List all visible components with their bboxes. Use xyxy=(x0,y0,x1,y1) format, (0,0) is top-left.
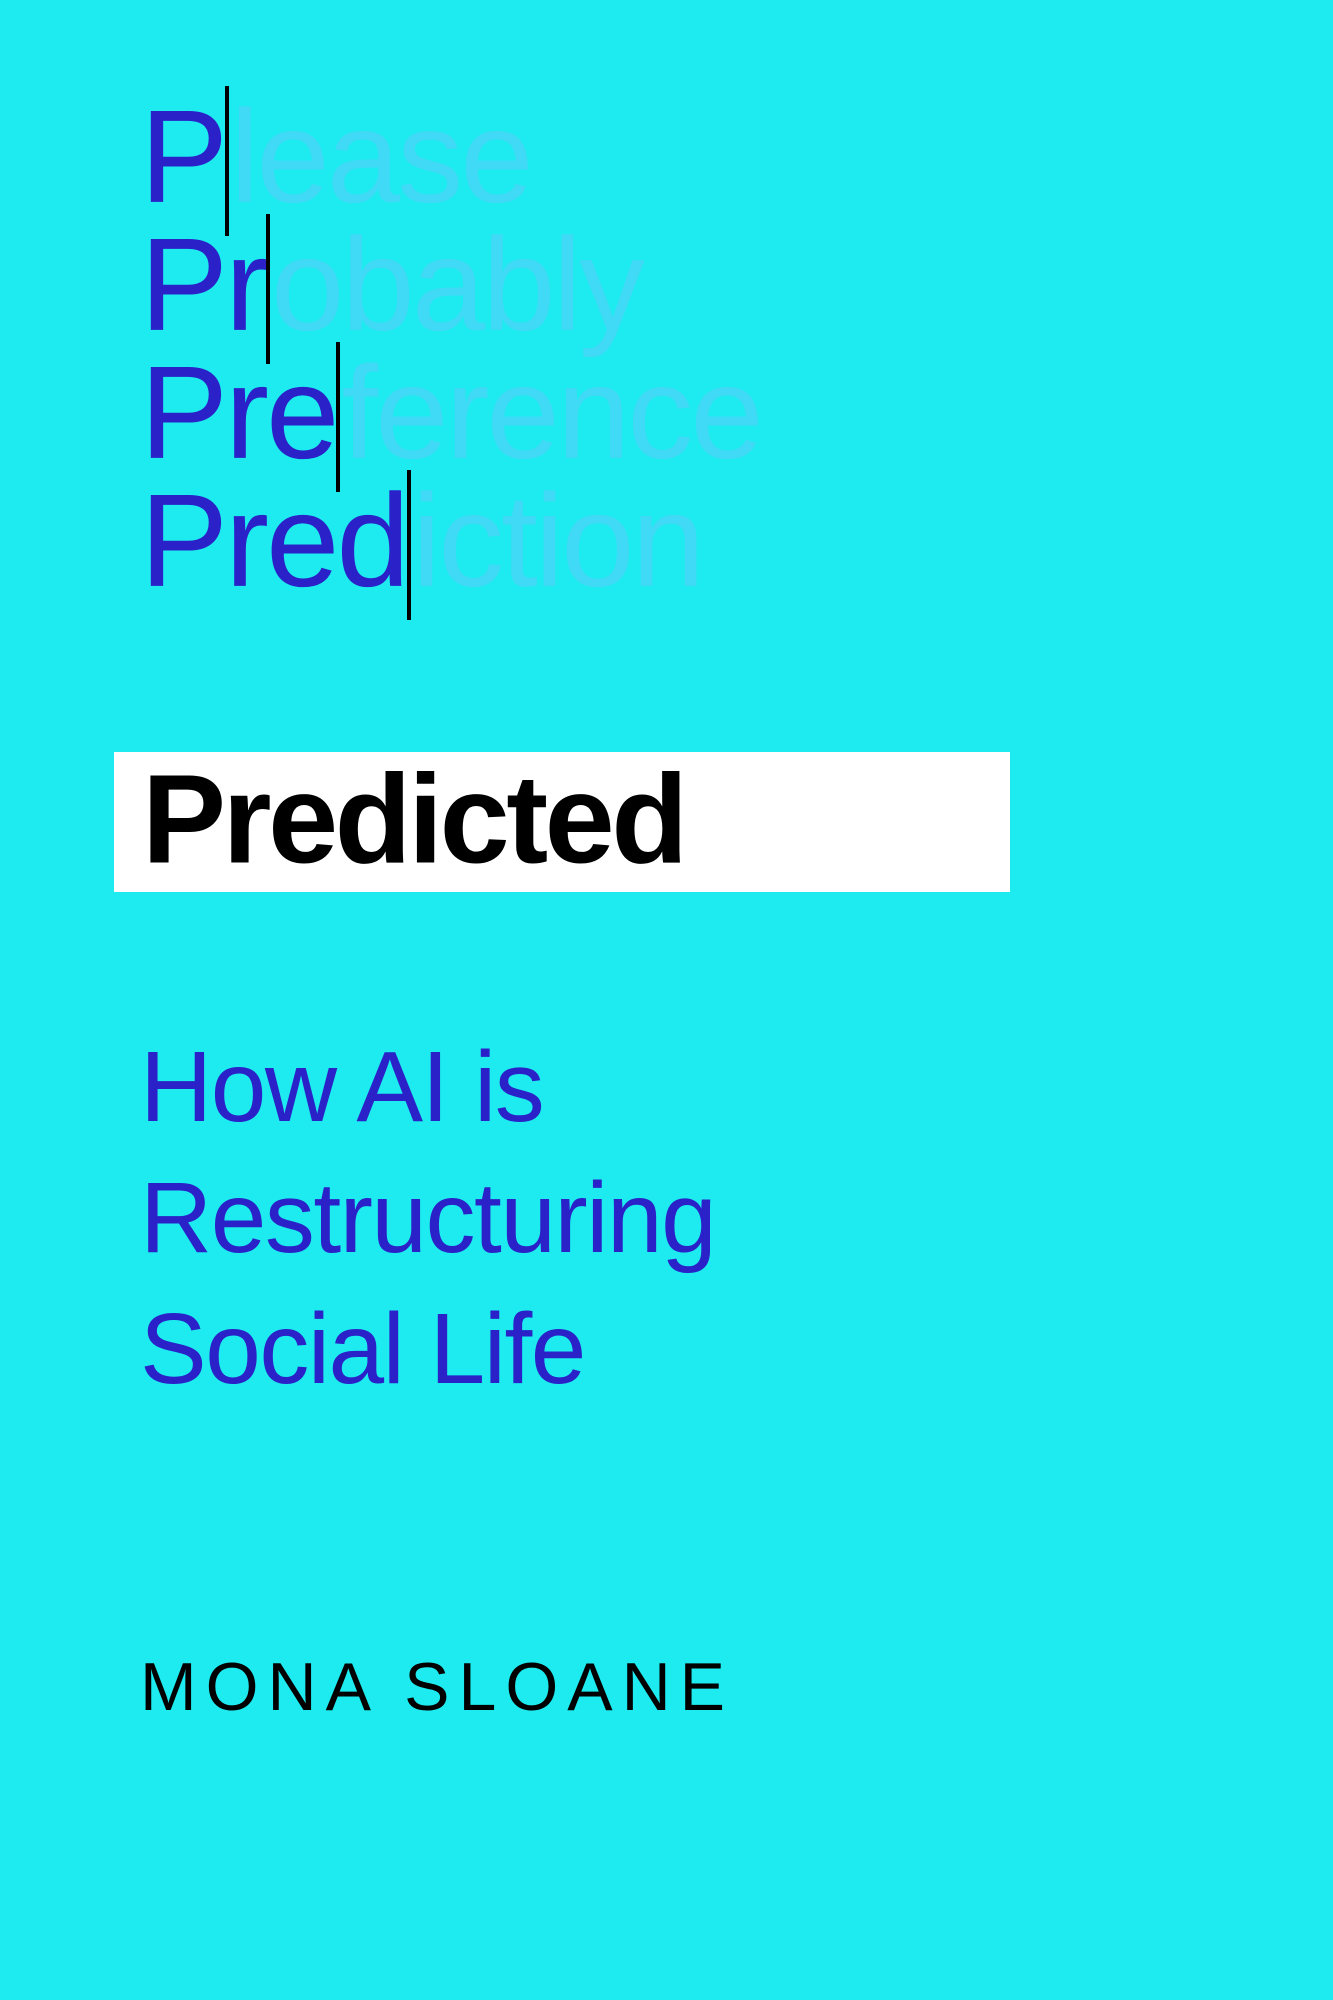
book-cover: Please Probably Preference Prediction Pr… xyxy=(0,0,1333,2000)
title-line-3-typed: Pre xyxy=(140,339,336,486)
text-caret-icon xyxy=(407,470,411,620)
title-line-2-typed: Pr xyxy=(140,211,266,358)
title-line-3: Preference xyxy=(140,348,1290,476)
subtitle-line-1: How AI is xyxy=(140,1022,1220,1153)
title-line-4-ghost: iction xyxy=(412,467,702,614)
title-line-1: Please xyxy=(140,92,1290,220)
title-line-3-ghost: ference xyxy=(341,339,760,486)
subtitle-line-3: Social Life xyxy=(140,1284,1220,1415)
main-title-highlight-box: Predicted xyxy=(114,752,1010,892)
title-line-1-typed: P xyxy=(140,83,225,230)
title-line-1-ghost: lease xyxy=(230,83,531,230)
animated-title-stack: Please Probably Preference Prediction xyxy=(140,92,1290,604)
title-line-4-typed: Pred xyxy=(140,467,407,614)
author-name: MONA SLOANE xyxy=(140,1648,734,1726)
title-line-4: Prediction xyxy=(140,476,1290,604)
subtitle: How AI is Restructuring Social Life xyxy=(140,1022,1220,1415)
title-line-2-ghost: obably xyxy=(271,211,642,358)
subtitle-line-2: Restructuring xyxy=(140,1153,1220,1284)
main-title: Predicted xyxy=(142,756,685,882)
title-line-2: Probably xyxy=(140,220,1290,348)
